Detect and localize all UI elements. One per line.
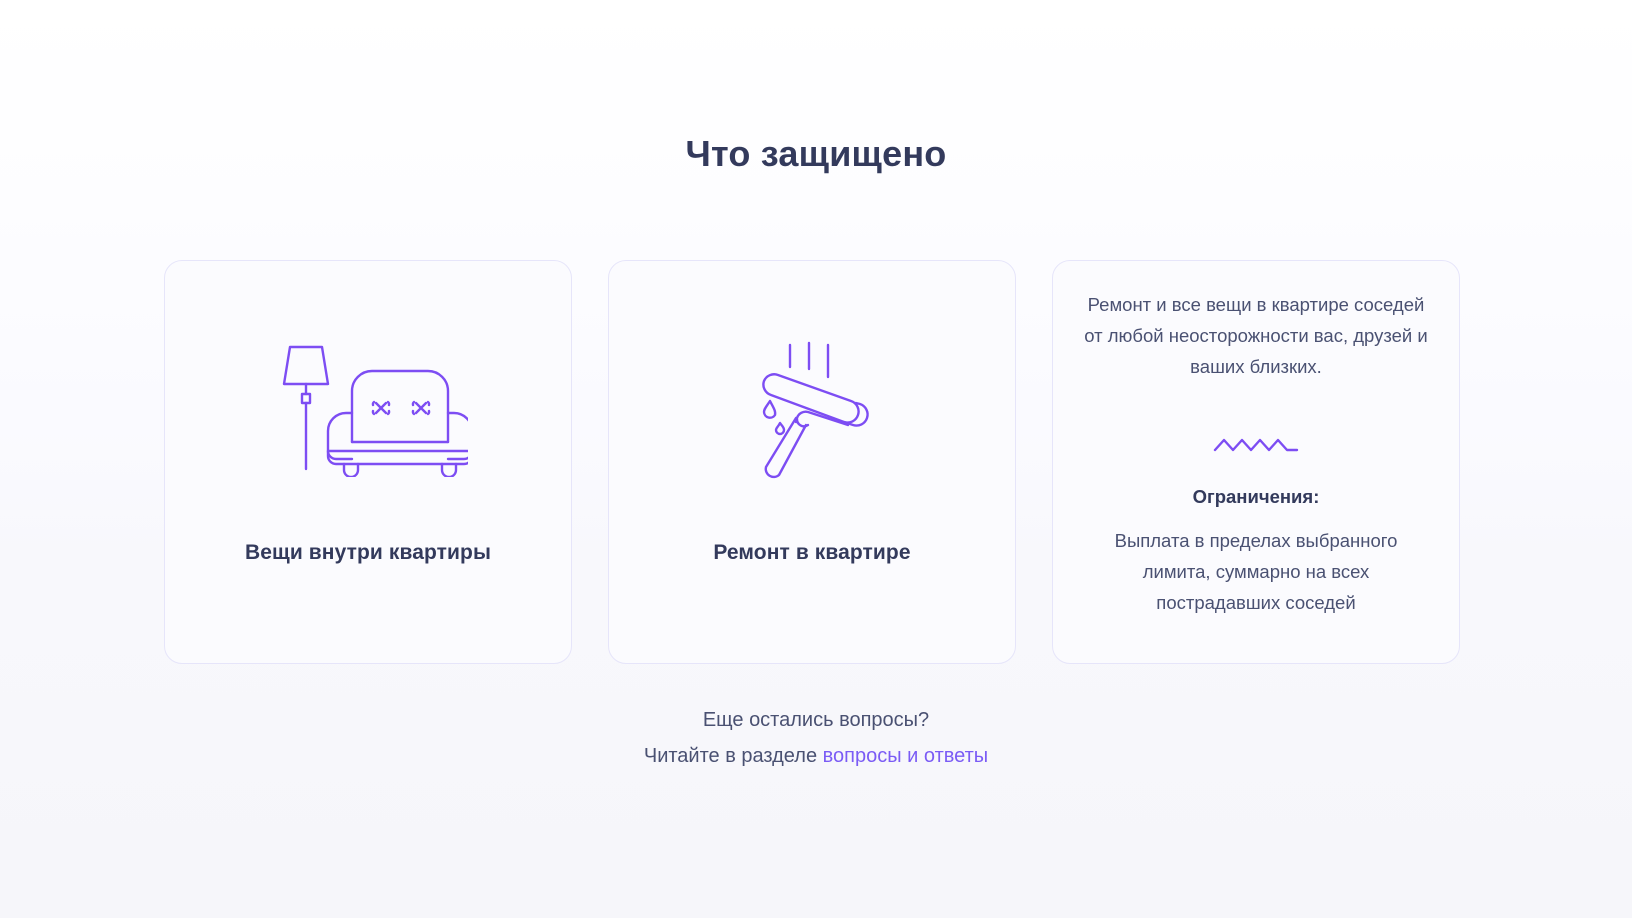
card-title: Вещи внутри квартиры [245, 541, 491, 565]
footer-questions-block: Еще остались вопросы? Читайте в разделе … [0, 702, 1632, 774]
paint-roller-icon [747, 339, 877, 479]
page-title: Что защищено [0, 133, 1632, 175]
faq-link[interactable]: вопросы и ответы [823, 745, 989, 767]
card-lead-text: Ремонт и все вещи в квартире соседей от … [1080, 289, 1432, 382]
coverage-cards-row: Вещи внутри квартиры [164, 260, 1468, 664]
coverage-card-things-inside-apartment[interactable]: Вещи внутри квартиры [164, 260, 572, 664]
limits-heading: Ограничения: [1193, 486, 1320, 508]
footer-question-text: Еще остались вопросы? [0, 702, 1632, 738]
sofa-and-floor-lamp-icon [268, 339, 468, 479]
footer-read-prefix: Читайте в разделе [644, 745, 823, 767]
footer-read-line: Читайте в разделе вопросы и ответы [0, 738, 1632, 774]
card-title: Ремонт в квартире [713, 541, 910, 565]
limits-description: Выплата в пределах выбранного лимита, су… [1091, 525, 1421, 618]
what-is-protected-section: Что защищено [0, 0, 1632, 918]
zigzag-divider-icon [1213, 434, 1299, 456]
coverage-card-renovation-in-apartment[interactable]: Ремонт в квартире [608, 260, 1016, 664]
coverage-card-neighbours[interactable]: Ремонт и все вещи в квартире соседей от … [1052, 260, 1460, 664]
